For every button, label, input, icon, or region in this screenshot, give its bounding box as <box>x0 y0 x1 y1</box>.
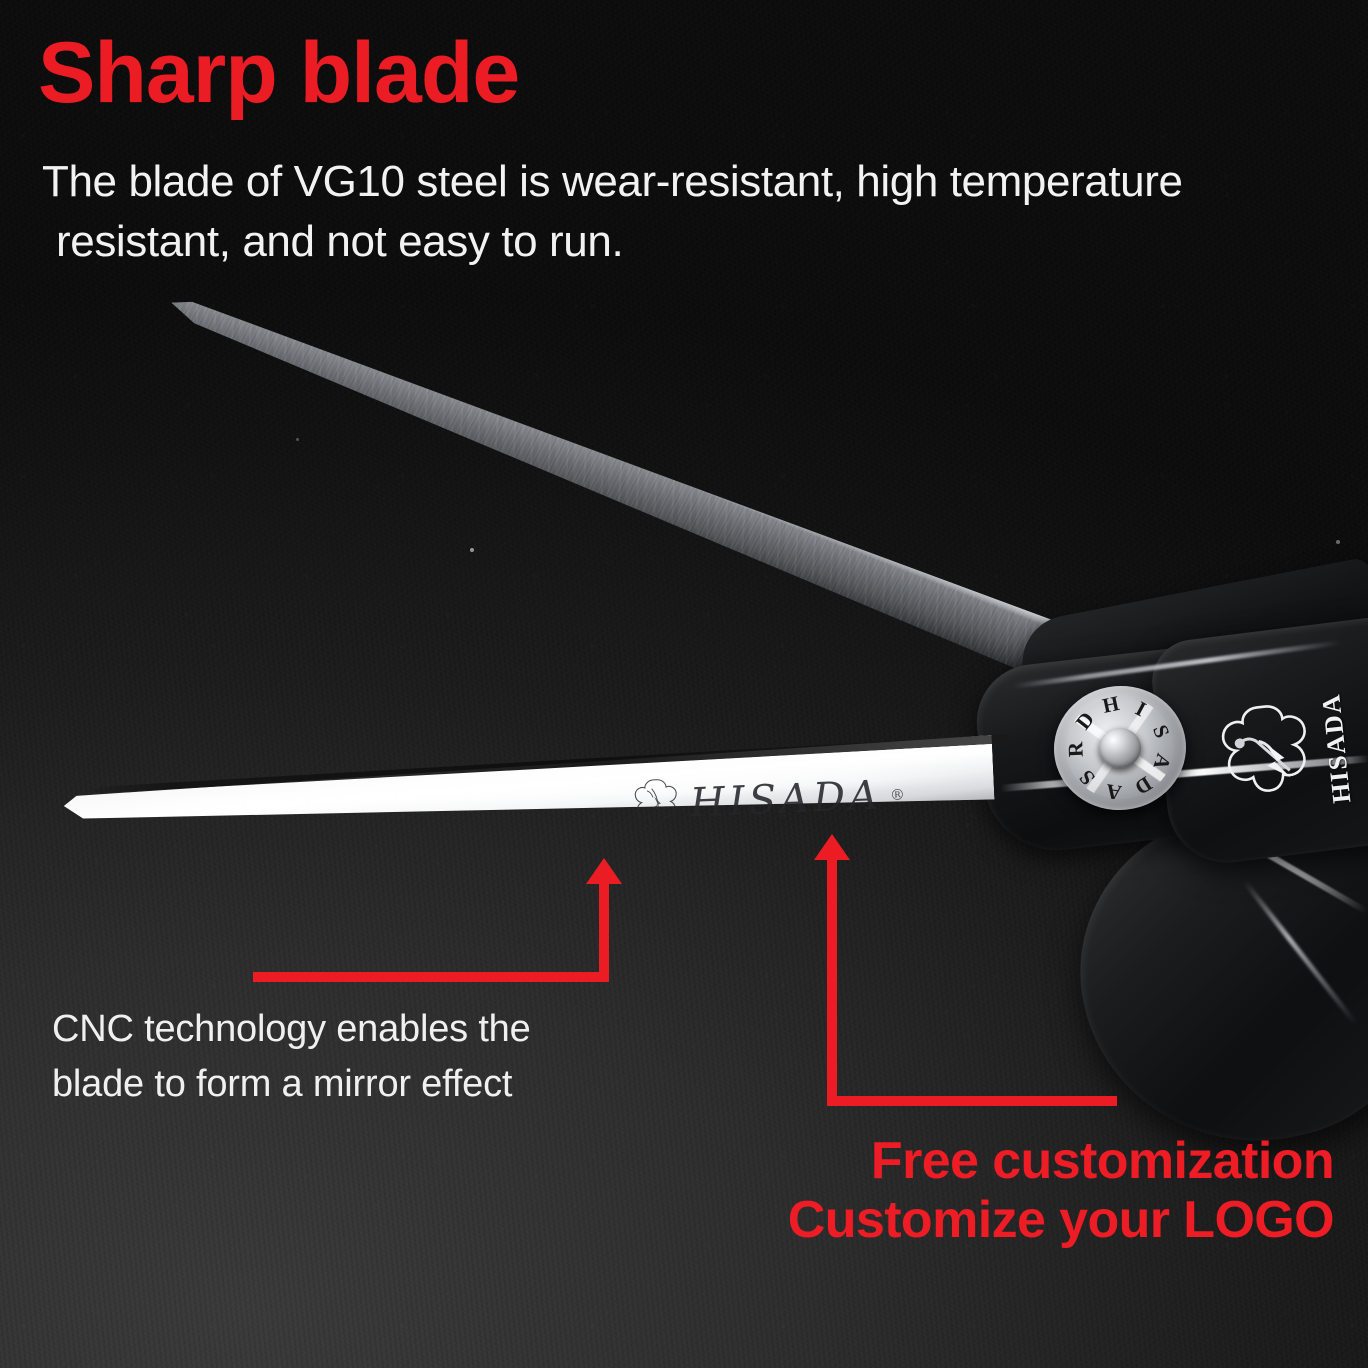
subtitle-line-2: resistant, and not easy to run. <box>42 212 1342 272</box>
callout-arrow-left-horizontal <box>253 972 609 982</box>
tension-dial-letter: S <box>1076 766 1099 789</box>
callout-right-line-2: Customize your LOGO <box>788 1191 1334 1250</box>
tension-dial-letter: S <box>1149 722 1173 741</box>
upper-blade-striations-secondary <box>159 278 1075 684</box>
upper-blade-edge-highlight <box>178 278 1075 637</box>
callout-arrow-right-vertical <box>827 860 837 1102</box>
tension-dial-letter: H <box>1101 693 1121 717</box>
handle-logo-plate: HISADA <box>1216 683 1368 823</box>
tension-dial-letter: A <box>1150 751 1175 772</box>
tension-dial-letter: R <box>1065 742 1087 758</box>
tension-dial-letter: D <box>1131 772 1155 798</box>
product-banner: HISADA ® HISADASRD HISADA <box>0 0 1368 1368</box>
callout-left-line-1: CNC technology enables the <box>52 1002 531 1057</box>
callout-arrow-left-head <box>586 858 622 884</box>
page-title: Sharp blade <box>38 30 519 116</box>
subtitle: The blade of VG10 steel is wear-resistan… <box>42 152 1342 272</box>
callout-right-line-1: Free customization <box>788 1132 1334 1191</box>
handle-brand-text: HISADA <box>1318 692 1355 804</box>
callout-arrow-right-horizontal <box>827 1096 1117 1106</box>
callout-right-text: Free customization Customize your LOGO <box>788 1132 1334 1251</box>
callout-left-text: CNC technology enables the blade to form… <box>52 1002 531 1111</box>
flower-sword-lightning-icon <box>1217 696 1324 815</box>
callout-left-line-2: blade to form a mirror effect <box>52 1057 531 1112</box>
tension-dial-letter: A <box>1105 780 1123 803</box>
subtitle-line-1: The blade of VG10 steel is wear-resistan… <box>42 157 1183 206</box>
upper-blade <box>159 278 1075 684</box>
callout-arrow-right-head <box>814 834 850 860</box>
tension-dial-letter: I <box>1132 698 1149 720</box>
callout-arrow-left-vertical <box>599 884 609 978</box>
tension-dial-letter: D <box>1072 708 1098 733</box>
